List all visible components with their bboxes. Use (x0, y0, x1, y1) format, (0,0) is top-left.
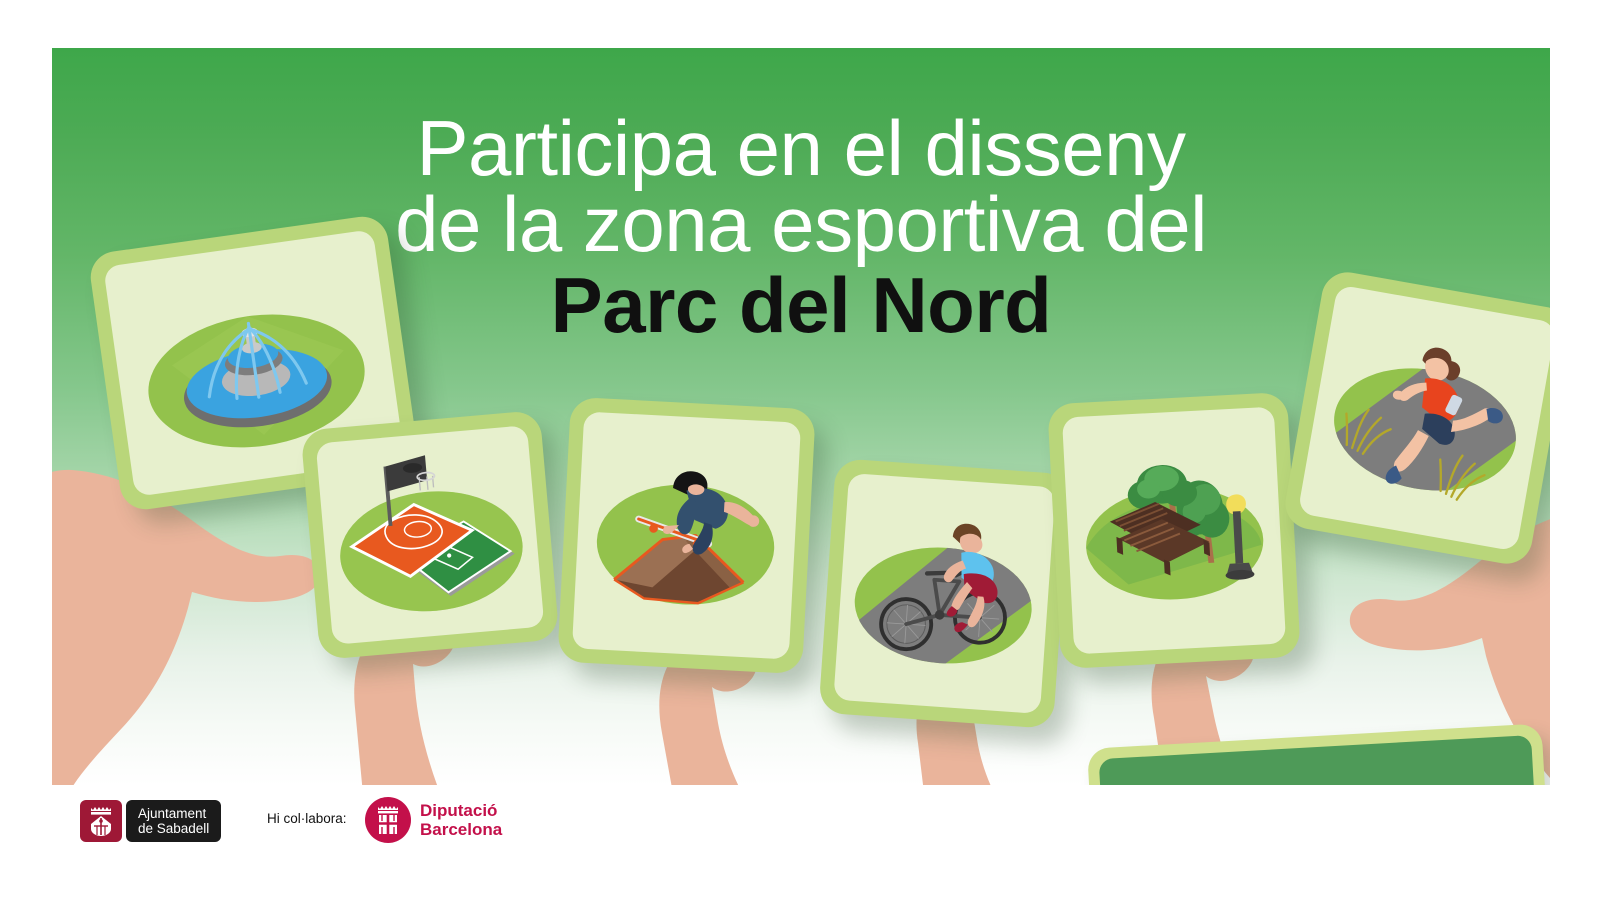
card-sports-court-face (316, 425, 545, 645)
sabadell-name-box: Ajuntament de Sabadell (126, 800, 221, 842)
cta-text: Fes la teva aportació! (1171, 773, 1467, 785)
banner-artwork: Participa en el disseny de la zona espor… (52, 48, 1550, 785)
card-bench[interactable] (1047, 392, 1301, 669)
card-skate-face (572, 411, 801, 659)
skate-ramp-icon (572, 411, 801, 659)
card-bench-face (1062, 407, 1286, 655)
card-bike-face (833, 473, 1055, 714)
bike-path-icon (833, 473, 1055, 714)
diputacio-line-2: Barcelona (420, 820, 502, 839)
headline-line-1: Participa en el disseny (52, 110, 1550, 186)
card-sports-court[interactable] (300, 410, 559, 660)
diputacio-line-1: Diputació (420, 801, 502, 820)
collaborate-label: Hi col·labora: (267, 811, 347, 826)
logo-diputacio-barcelona[interactable]: Diputació Barcelona (365, 797, 502, 843)
card-running-face (1298, 284, 1550, 551)
card-running[interactable] (1281, 268, 1550, 567)
card-bike[interactable] (818, 458, 1070, 729)
cta-line-1: Fes la teva (1181, 771, 1455, 785)
poster-canvas: Participa en el disseny de la zona espor… (0, 0, 1600, 900)
ajuntament-line-1: Ajuntament (138, 806, 209, 821)
footer-logos: Ajuntament de Sabadell Hi col·labora: Di… (0, 785, 1600, 900)
logo-ajuntament-sabadell[interactable]: Ajuntament de Sabadell (80, 800, 221, 842)
bench-trees-icon (1062, 407, 1286, 655)
sabadell-crest-icon (80, 800, 122, 842)
diputacio-name-box: Diputació Barcelona (420, 801, 502, 839)
diputacio-crest-icon (365, 797, 411, 843)
ajuntament-line-2: de Sabadell (138, 821, 209, 836)
running-track-icon (1298, 284, 1550, 551)
sports-court-icon (316, 425, 545, 645)
card-skate[interactable] (557, 397, 816, 674)
